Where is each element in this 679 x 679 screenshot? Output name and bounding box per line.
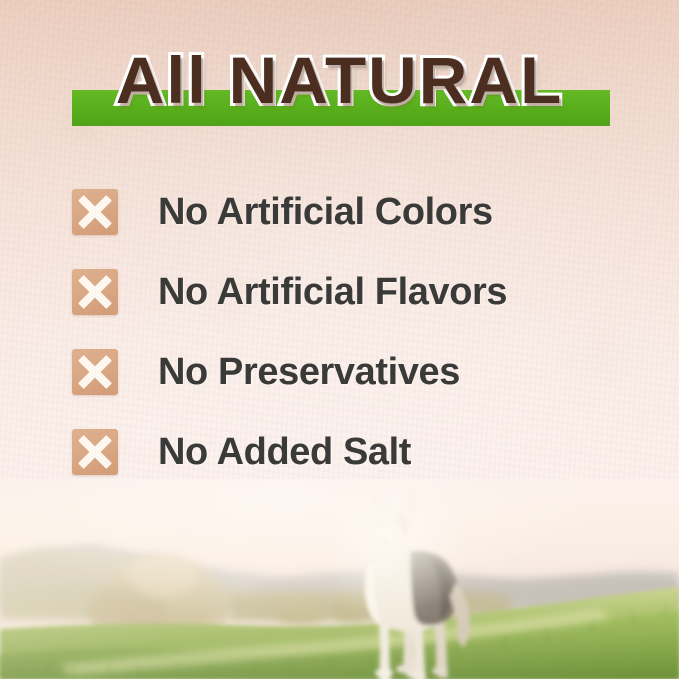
landscape-photo-artwork [0,479,679,679]
landscape-photo [0,479,679,679]
list-item: No Artificial Colors [0,172,679,252]
x-mark-icon [72,349,118,395]
page-title: All NATURAL [0,49,679,111]
benefit-label: No Preservatives [158,351,460,393]
benefit-list: No Artificial Colors No Artificial Flavo… [0,172,679,492]
benefit-label: No Artificial Flavors [158,271,507,313]
list-item: No Preservatives [0,332,679,412]
x-mark-icon [72,189,118,235]
x-mark-icon [72,269,118,315]
benefit-label: No Added Salt [158,431,411,473]
benefit-label: No Artificial Colors [158,191,493,233]
all-natural-poster: All NATURAL No Artificial Colors No Arti… [0,0,679,679]
list-item: No Artificial Flavors [0,252,679,332]
x-mark-icon [72,429,118,475]
